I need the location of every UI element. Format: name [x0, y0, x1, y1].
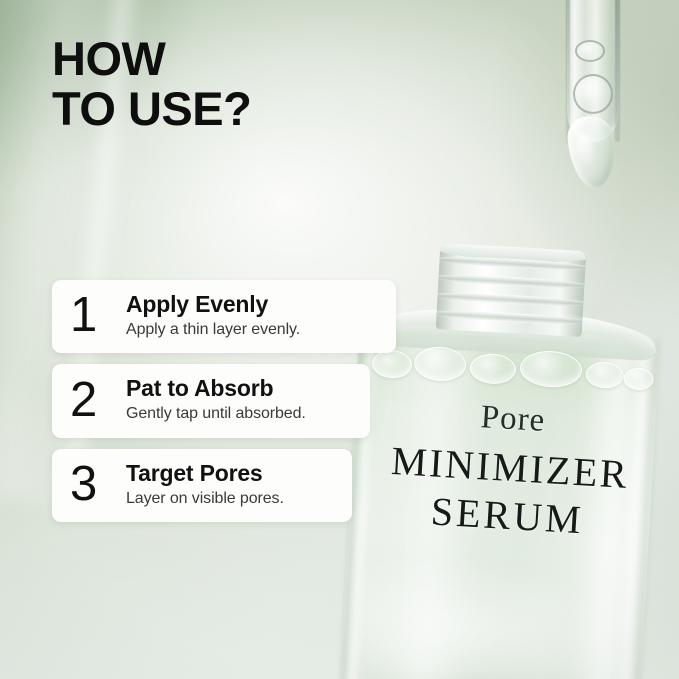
bottle-thread [436, 308, 587, 326]
pipette-edge-right [615, 0, 620, 142]
step-title: Target Pores [126, 460, 338, 487]
step-content: Target Pores Layer on visible pores. [126, 460, 338, 509]
bottle-thread [436, 290, 587, 308]
step-description: Apply a thin layer evenly. [126, 320, 382, 341]
page-title-line-2: TO USE? [52, 84, 251, 134]
step-title: Pat to Absorb [126, 375, 356, 402]
bubble-icon [573, 74, 613, 114]
bubble-icon [575, 40, 605, 62]
dropper-pipette [545, 0, 637, 197]
bubble-icon [469, 353, 517, 386]
step-card-3[interactable]: 3 Target Pores Layer on visible pores. [52, 449, 352, 522]
bubble-icon [623, 367, 654, 391]
step-number: 1 [70, 291, 126, 340]
bubble-icon [519, 349, 583, 388]
step-content: Apply Evenly Apply a thin layer evenly. [126, 291, 382, 340]
step-description: Layer on visible pores. [126, 489, 338, 510]
bottle-neck [436, 243, 587, 337]
bottle-foam-texture [356, 550, 632, 679]
step-title: Apply Evenly [126, 291, 382, 318]
pipette-edge-left [566, 0, 570, 144]
page-title: HOW TO USE? [52, 34, 251, 134]
bubble-icon [585, 361, 624, 389]
step-card-2[interactable]: 2 Pat to Absorb Gently tap until absorbe… [52, 364, 370, 437]
step-number: 2 [70, 376, 126, 425]
step-card-1[interactable]: 1 Apply Evenly Apply a thin layer evenly… [52, 280, 396, 353]
steps-list: 1 Apply Evenly Apply a thin layer evenly… [52, 280, 402, 533]
page-title-line-1: HOW [52, 32, 165, 85]
step-number: 3 [70, 460, 126, 509]
infographic-canvas: Pore MINIMIZER SERUM HOW TO USE? 1 Apply… [0, 0, 679, 679]
bottle-thread [436, 272, 587, 290]
product-label: Pore MINIMIZER SERUM [358, 394, 662, 548]
step-description: Gently tap until absorbed. [126, 404, 356, 425]
step-content: Pat to Absorb Gently tap until absorbed. [126, 375, 356, 424]
bubble-icon [413, 345, 467, 382]
